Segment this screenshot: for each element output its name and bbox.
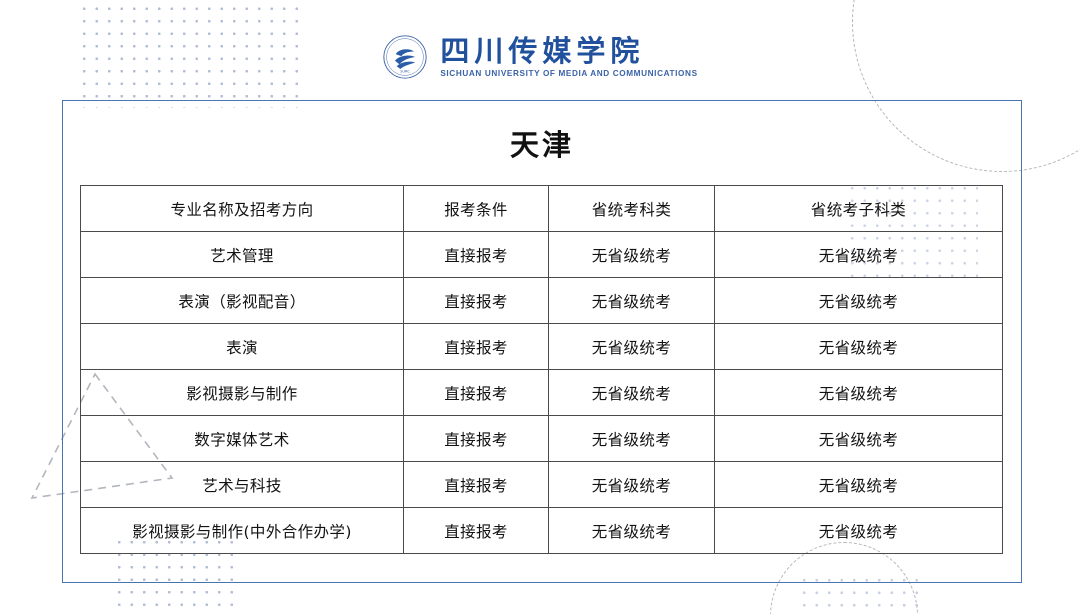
cell-category: 无省级统考 <box>549 508 715 554</box>
cell-major: 表演（影视配音） <box>81 278 404 324</box>
cell-subcategory: 无省级统考 <box>715 462 1003 508</box>
table-row: 艺术与科技 直接报考 无省级统考 无省级统考 <box>81 462 1003 508</box>
column-header-condition: 报考条件 <box>404 186 549 232</box>
brand-header: SUMC 四川传媒学院 SICHUAN UNIVERSITY OF MEDIA … <box>0 34 1080 80</box>
brand-text-block: 四川传媒学院 SICHUAN UNIVERSITY OF MEDIA AND C… <box>440 36 697 78</box>
cell-category: 无省级统考 <box>549 462 715 508</box>
table-row: 艺术管理 直接报考 无省级统考 无省级统考 <box>81 232 1003 278</box>
cell-subcategory: 无省级统考 <box>715 232 1003 278</box>
cell-category: 无省级统考 <box>549 370 715 416</box>
cell-condition: 直接报考 <box>404 278 549 324</box>
cell-category: 无省级统考 <box>549 324 715 370</box>
table-body: 专业名称及招考方向 报考条件 省统考科类 省统考子科类 艺术管理 直接报考 无省… <box>81 186 1003 554</box>
cell-subcategory: 无省级统考 <box>715 324 1003 370</box>
cell-subcategory: 无省级统考 <box>715 278 1003 324</box>
brand-name-en: SICHUAN UNIVERSITY OF MEDIA AND COMMUNIC… <box>440 69 697 78</box>
cell-subcategory: 无省级统考 <box>715 416 1003 462</box>
table-row: 数字媒体艺术 直接报考 无省级统考 无省级统考 <box>81 416 1003 462</box>
cell-category: 无省级统考 <box>549 278 715 324</box>
page-title: 天津 <box>62 122 1022 164</box>
cell-condition: 直接报考 <box>404 416 549 462</box>
admission-table: 专业名称及招考方向 报考条件 省统考科类 省统考子科类 艺术管理 直接报考 无省… <box>80 185 1003 554</box>
cell-subcategory: 无省级统考 <box>715 370 1003 416</box>
cell-category: 无省级统考 <box>549 232 715 278</box>
column-header-category: 省统考科类 <box>549 186 715 232</box>
admission-table-wrapper: 专业名称及招考方向 报考条件 省统考科类 省统考子科类 艺术管理 直接报考 无省… <box>80 185 1002 554</box>
cell-major: 数字媒体艺术 <box>81 416 404 462</box>
cell-condition: 直接报考 <box>404 370 549 416</box>
cell-category: 无省级统考 <box>549 416 715 462</box>
column-header-major: 专业名称及招考方向 <box>81 186 404 232</box>
cell-major: 艺术管理 <box>81 232 404 278</box>
column-header-subcategory: 省统考子科类 <box>715 186 1003 232</box>
table-row: 表演（影视配音） 直接报考 无省级统考 无省级统考 <box>81 278 1003 324</box>
brand-name-cn: 四川传媒学院 <box>440 36 644 67</box>
cell-condition: 直接报考 <box>404 462 549 508</box>
university-seal-icon: SUMC <box>382 34 428 80</box>
cell-condition: 直接报考 <box>404 508 549 554</box>
cell-major: 影视摄影与制作 <box>81 370 404 416</box>
cell-condition: 直接报考 <box>404 324 549 370</box>
cell-major: 表演 <box>81 324 404 370</box>
table-row: 表演 直接报考 无省级统考 无省级统考 <box>81 324 1003 370</box>
table-header-row: 专业名称及招考方向 报考条件 省统考科类 省统考子科类 <box>81 186 1003 232</box>
cell-major: 影视摄影与制作(中外合作办学) <box>81 508 404 554</box>
cell-subcategory: 无省级统考 <box>715 508 1003 554</box>
slide-page: SUMC 四川传媒学院 SICHUAN UNIVERSITY OF MEDIA … <box>0 0 1080 614</box>
table-row: 影视摄影与制作(中外合作办学) 直接报考 无省级统考 无省级统考 <box>81 508 1003 554</box>
table-row: 影视摄影与制作 直接报考 无省级统考 无省级统考 <box>81 370 1003 416</box>
cell-major: 艺术与科技 <box>81 462 404 508</box>
cell-condition: 直接报考 <box>404 232 549 278</box>
svg-text:SUMC: SUMC <box>401 70 411 74</box>
